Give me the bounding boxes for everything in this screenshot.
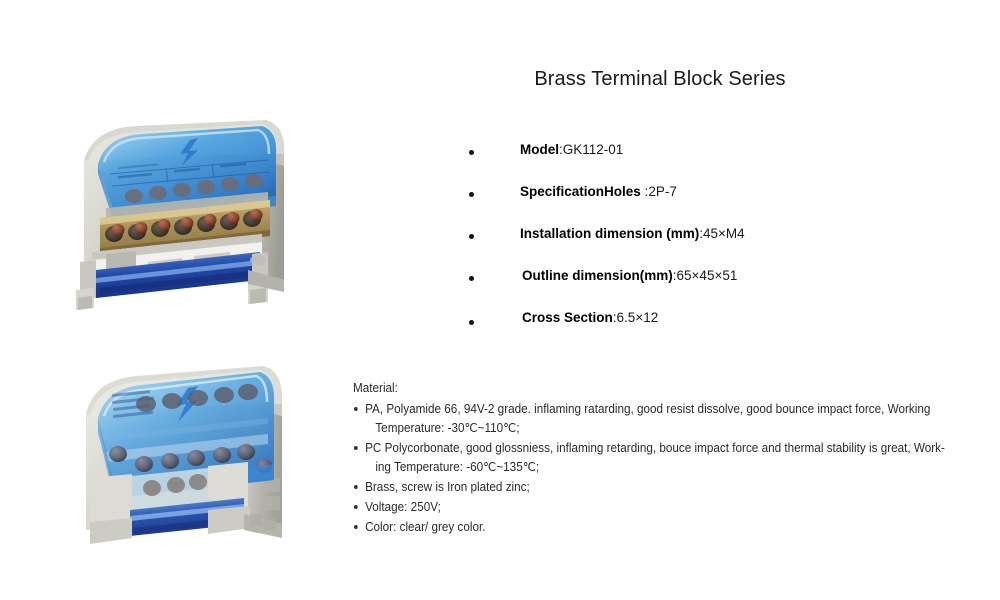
material-item-color: Color: clear/ grey color. <box>353 518 976 537</box>
product-photo-front-angle <box>62 112 310 327</box>
spec-item-specification-holes: SpecificationHoles :2P-7 <box>462 184 982 226</box>
spec-label: Outline dimension(mm) <box>522 268 673 283</box>
spec-label: Model <box>520 142 559 157</box>
page-title: Brass Terminal Block Series <box>0 68 1000 91</box>
bullet-icon <box>354 525 358 529</box>
spec-value: 45×M4 <box>703 226 745 241</box>
spec-value: 6.5×12 <box>617 310 659 325</box>
spec-item-installation-dimension: Installation dimension (mm):45×M4 <box>462 226 982 268</box>
material-line: Color: clear/ grey color. <box>365 520 485 534</box>
spec-label: SpecificationHoles <box>520 184 641 199</box>
spec-value: GK112-01 <box>563 142 624 157</box>
material-line: PC Polycorbonate, good glossniess, infla… <box>365 441 945 455</box>
material-item-brass: Brass, screw is Iron plated zinc; <box>353 478 976 497</box>
bullet-icon <box>469 320 474 325</box>
bullet-icon <box>469 234 474 239</box>
product-spec-page: Brass Terminal Block Series <box>0 0 1000 600</box>
material-heading: Material: <box>353 381 934 395</box>
material-line-continued: ing Temperature: -60℃~135℃; <box>365 458 976 477</box>
bullet-icon <box>354 446 358 450</box>
bullet-icon <box>469 276 474 281</box>
spec-item-model: Model:GK112-01 <box>462 142 982 184</box>
spec-item-outline-dimension: Outline dimension(mm):65×45×51 <box>462 268 982 310</box>
spec-label: Cross Section <box>522 310 613 325</box>
material-item-voltage: Voltage: 250V; <box>353 498 976 517</box>
material-section: Material: PA, Polyamide 66, 94V-2 grade.… <box>353 381 978 538</box>
material-item-pa: PA, Polyamide 66, 94V-2 grade. inflaming… <box>353 400 976 438</box>
bullet-icon <box>469 192 474 197</box>
spec-value: 2P-7 <box>648 184 677 199</box>
specification-list: Model:GK112-01 SpecificationHoles :2P-7 … <box>462 142 982 352</box>
material-item-pc: PC Polycorbonate, good glossniess, infla… <box>353 439 976 477</box>
material-line: Voltage: 250V; <box>365 500 441 514</box>
material-line: Brass, screw is Iron plated zinc; <box>365 480 530 494</box>
spec-label: Installation dimension (mm) <box>520 226 699 241</box>
material-line: PA, Polyamide 66, 94V-2 grade. inflaming… <box>365 402 930 416</box>
bullet-icon <box>469 150 474 155</box>
bullet-icon <box>354 407 358 411</box>
product-photo-side-angle <box>68 358 303 556</box>
spec-value: 65×45×51 <box>677 268 738 283</box>
spec-item-cross-section: Cross Section:6.5×12 <box>462 310 982 352</box>
material-line-continued: Temperature: -30℃~110℃; <box>365 419 976 438</box>
bullet-icon <box>354 485 358 489</box>
bullet-icon <box>354 505 358 509</box>
